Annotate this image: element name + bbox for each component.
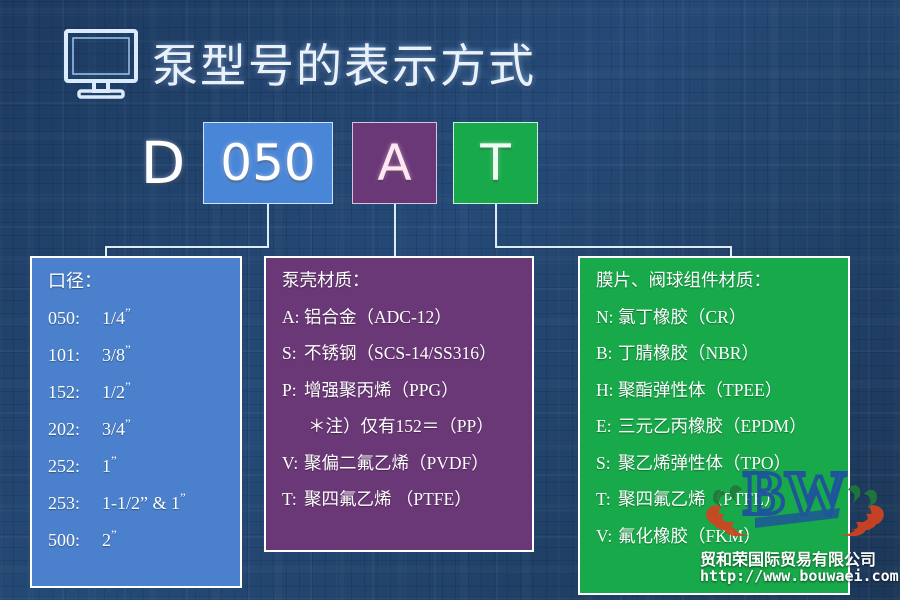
body-note: ＊注）仅有152＝（PP） [308, 418, 494, 436]
connector-t-vertical [495, 204, 497, 248]
body-code: S: [282, 345, 304, 363]
bore-value: 3/8 [102, 346, 125, 364]
bore-row: 202:3/4” [48, 418, 224, 438]
body-row: T:聚四氟乙烯 （PTFE） [282, 491, 516, 509]
connector-050-vertical [267, 204, 269, 248]
body-row: P:增强聚丙烯（PPG） [282, 382, 516, 400]
diaphragm-row: B:丁腈橡胶（NBR） [596, 345, 832, 363]
diaphragm-row: S:聚乙烯弹性体（TPO） [596, 455, 832, 473]
diaphragm-code: V: [596, 528, 618, 546]
diaphragm-value: 聚乙烯弹性体（TPO） [618, 455, 791, 473]
body-row-note: ＊注）仅有152＝（PP） [282, 418, 516, 436]
panel-diaphragm-material: 膜片、阀球组件材质： N:氯丁橡胶（CR） B:丁腈橡胶（NBR） H:聚酯弹性… [578, 256, 850, 595]
body-code: V: [282, 455, 304, 473]
diaphragm-code: S: [596, 455, 618, 473]
bore-value: 2 [102, 531, 111, 549]
bore-value: 1/2 [102, 383, 125, 401]
body-value: 增强聚丙烯（PPG） [304, 382, 459, 400]
diaphragm-value: 氯丁橡胶（CR） [618, 309, 746, 327]
bore-unit: ” [125, 416, 131, 431]
diaphragm-value: 丁腈橡胶（NBR） [618, 345, 759, 363]
diaphragm-row: N:氯丁橡胶（CR） [596, 309, 832, 327]
bore-row: 050:1/4” [48, 307, 224, 327]
body-value: 不锈钢（SCS-14/SS316） [304, 345, 497, 363]
panel-body-material: 泵壳材质： A:铝合金（ADC-12） S:不锈钢（SCS-14/SS316） … [264, 256, 534, 552]
diaphragm-value: 聚酯弹性体（TPEE） [618, 382, 782, 400]
panel-diaphragm-heading: 膜片、阀球组件材质： [596, 272, 832, 290]
bore-row: 152:1/2” [48, 381, 224, 401]
body-row: V:聚偏二氟乙烯（PVDF） [282, 455, 516, 473]
diaphragm-row: V:氟化橡胶（FKM） [596, 528, 832, 546]
token-diaphragm-t[interactable]: T [453, 122, 538, 204]
bore-value: 1 [102, 457, 111, 475]
bore-row: 500:2” [48, 529, 224, 549]
diaphragm-code: B: [596, 345, 618, 363]
diaphragm-value: 三元乙丙橡胶（EPDM） [618, 418, 807, 436]
diaphragm-row: E:三元乙丙橡胶（EPDM） [596, 418, 832, 436]
bore-code: 500: [48, 531, 102, 549]
bore-unit: ” [111, 453, 117, 468]
diaphragm-row: T:聚四氟乙烯（PTFE） [596, 491, 832, 509]
body-code: T: [282, 491, 304, 509]
bore-code: 252: [48, 457, 102, 475]
bore-unit: ” [125, 379, 131, 394]
bore-value: 1-1/2” & 1 [102, 494, 180, 512]
panel-body-heading: 泵壳材质： [282, 272, 516, 290]
body-code: P: [282, 382, 304, 400]
bore-row: 101:3/8” [48, 344, 224, 364]
bore-unit: ” [125, 305, 131, 320]
slide-canvas: 泵型号的表示方式 D 050 A T 口径： 050:1/4” 101:3/8”… [0, 0, 900, 600]
diaphragm-value: 氟化橡胶（FKM） [618, 528, 761, 546]
body-value: 聚四氟乙烯 （PTFE） [304, 491, 472, 509]
body-value: 铝合金（ADC-12） [304, 309, 452, 327]
diaphragm-row: H:聚酯弹性体（TPEE） [596, 382, 832, 400]
bore-code: 050: [48, 309, 102, 327]
bore-value: 1/4 [102, 309, 125, 327]
bore-value: 3/4 [102, 420, 125, 438]
panel-bore: 口径： 050:1/4” 101:3/8” 152:1/2” 202:3/4” … [30, 256, 242, 588]
bore-code: 101: [48, 346, 102, 364]
body-row: A:铝合金（ADC-12） [282, 309, 516, 327]
panel-bore-heading: 口径： [48, 272, 224, 290]
connector-a-vertical [394, 204, 396, 258]
body-code: A: [282, 309, 304, 327]
bore-unit: ” [180, 490, 186, 505]
connector-050-horizontal [105, 246, 269, 248]
diaphragm-code: T: [596, 491, 618, 509]
bore-code: 202: [48, 420, 102, 438]
token-prefix-d[interactable]: D [134, 124, 192, 202]
diaphragm-code: E: [596, 418, 618, 436]
bore-row: 253:1-1/2” & 1” [48, 492, 224, 512]
bore-unit: ” [125, 342, 131, 357]
body-value: 聚偏二氟乙烯（PVDF） [304, 455, 489, 473]
connector-t-horizontal [495, 246, 732, 248]
bore-row: 252:1” [48, 455, 224, 475]
diaphragm-code: N: [596, 309, 618, 327]
bore-code: 253: [48, 494, 102, 512]
diaphragm-code: H: [596, 382, 618, 400]
body-row: S:不锈钢（SCS-14/SS316） [282, 345, 516, 363]
diaphragm-value: 聚四氟乙烯（PTFE） [618, 491, 781, 509]
bore-code: 152: [48, 383, 102, 401]
monitor-icon [63, 28, 139, 100]
page-title: 泵型号的表示方式 [152, 30, 536, 96]
bore-unit: ” [111, 527, 117, 542]
token-bore-050[interactable]: 050 [203, 122, 333, 204]
token-body-a[interactable]: A [352, 122, 437, 204]
